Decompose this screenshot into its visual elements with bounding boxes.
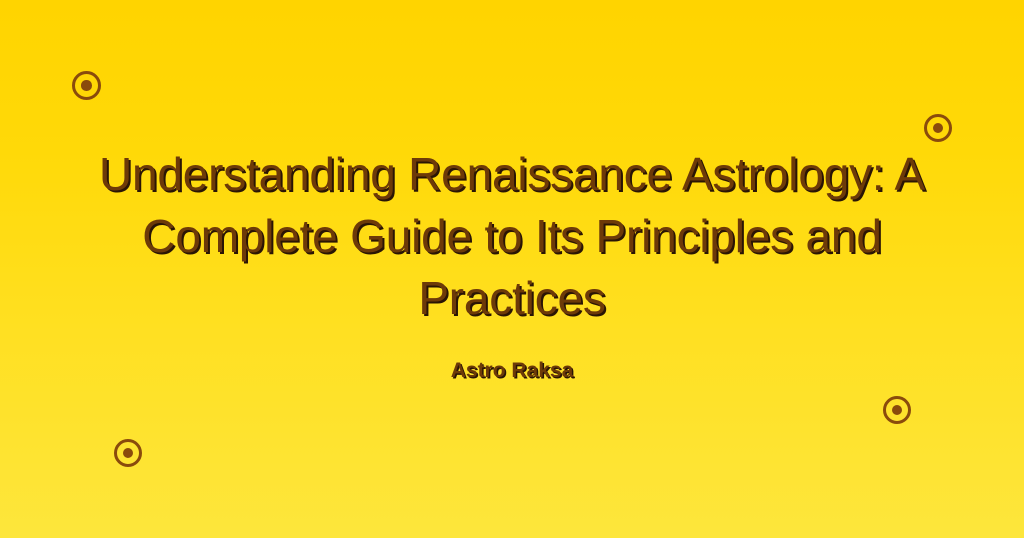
- title-slide: Understanding Renaissance Astrology: A C…: [0, 0, 1024, 538]
- slide-content: Understanding Renaissance Astrology: A C…: [0, 0, 1024, 538]
- page-title: Understanding Renaissance Astrology: A C…: [62, 143, 962, 329]
- slide-subtitle: Astro Raksa: [451, 329, 574, 383]
